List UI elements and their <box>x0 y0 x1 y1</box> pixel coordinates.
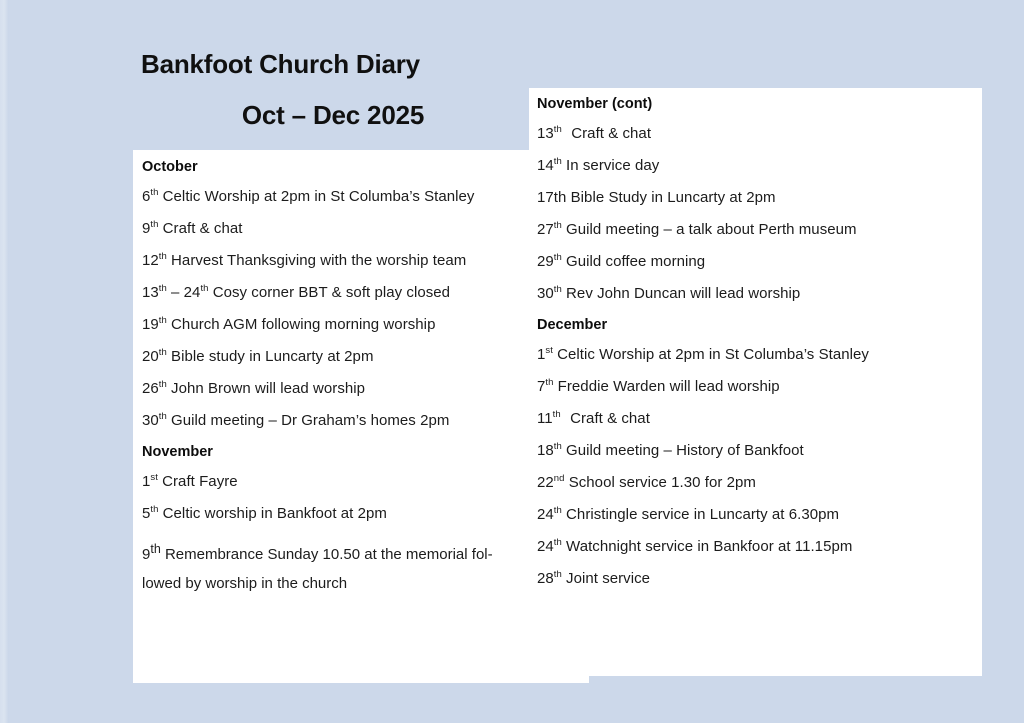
diary-entry: 9th Craft & chat <box>142 218 520 239</box>
entry-text: Church AGM following morning worship <box>171 316 435 333</box>
diary-entry: 12th Harvest Thanksgiving with the worsh… <box>142 250 520 271</box>
diary-entry: 19th Church AGM following morning worshi… <box>142 314 520 335</box>
entry-day-ordinal: th <box>553 409 561 420</box>
entry-day-ordinal: th <box>159 283 167 294</box>
entry-day: 11 <box>537 410 553 427</box>
entry-day: 14 <box>537 157 554 174</box>
diary-entry: 1st Craft Fayre <box>142 471 520 492</box>
month-heading: November <box>142 443 520 462</box>
diary-entry: 7th Freddie Warden will lead worship <box>537 376 967 397</box>
entry-day-ordinal: st <box>545 345 553 356</box>
entry-day: 30 <box>142 412 159 429</box>
entry-day-ordinal: th <box>150 542 160 556</box>
entry-text: Bible Study in Luncarty at 2pm <box>571 189 776 206</box>
entry-text: Bible study in Luncarty at 2pm <box>171 348 373 365</box>
entry-day-end: 24 <box>184 284 201 301</box>
entry-text: Cosy corner BBT & soft play closed <box>213 284 450 301</box>
entry-day-ordinal: th <box>159 379 167 390</box>
entry-text: Watchnight service in Bankfoor at 11.15p… <box>566 538 852 555</box>
entry-day: 18 <box>537 442 554 459</box>
entry-text: Joint service <box>566 570 650 587</box>
entry-day-ordinal: th <box>554 537 562 548</box>
entry-day: 22 <box>537 474 554 491</box>
entry-day-ordinal: th <box>554 569 562 580</box>
entry-text: Guild meeting – a talk about Perth museu… <box>566 221 857 238</box>
entry-text: Craft Fayre <box>162 473 238 490</box>
entry-day: 30 <box>537 285 554 302</box>
month-heading: October <box>142 158 520 177</box>
entry-text: Celtic worship in Bankfoot at 2pm <box>163 505 387 522</box>
entry-day: 17th <box>537 189 566 206</box>
diary-entry: 29th Guild coffee morning <box>537 251 967 272</box>
diary-entry: 30th Rev John Duncan will lead worship <box>537 283 967 304</box>
entry-day-ordinal: th <box>159 411 167 422</box>
entry-day-ordinal: nd <box>554 473 565 484</box>
diary-entry: 30th Guild meeting – Dr Graham’s homes 2… <box>142 410 520 431</box>
entry-text: Craft & chat <box>163 220 243 237</box>
entry-text: Remembrance Sunday 10.50 at the memorial… <box>142 546 493 592</box>
entry-day: 29 <box>537 253 554 270</box>
entry-text: Craft & chat <box>571 125 651 142</box>
entry-text: Guild meeting – Dr Graham’s homes 2pm <box>171 412 449 429</box>
entry-day: 13 <box>537 125 554 142</box>
panel-seam-filler <box>529 600 589 683</box>
month-heading: December <box>537 316 967 335</box>
entry-day: 28 <box>537 570 554 587</box>
entry-day: 20 <box>142 348 159 365</box>
diary-entry: 28th Joint service <box>537 568 967 589</box>
diary-entry: 22nd School service 1.30 for 2pm <box>537 472 967 493</box>
diary-entry: 11th Craft & chat <box>537 408 967 429</box>
entry-day: 24 <box>537 506 554 523</box>
entry-day-ordinal: th <box>159 347 167 358</box>
left-column: October6th Celtic Worship at 2pm in St C… <box>142 158 520 609</box>
entry-text: Harvest Thanksgiving with the worship te… <box>171 252 466 269</box>
entry-text: Rev John Duncan will lead worship <box>566 285 800 302</box>
diary-entry: 9th Remembrance Sunday 10.50 at the memo… <box>142 535 520 598</box>
entry-text: In service day <box>566 157 659 174</box>
entry-day: 13 <box>142 284 159 301</box>
diary-entry: 18th Guild meeting – History of Bankfoot <box>537 440 967 461</box>
right-column: November (cont)13th Craft & chat14th In … <box>537 95 967 600</box>
entry-day-ordinal: th <box>554 284 562 295</box>
diary-entry: 20th Bible study in Luncarty at 2pm <box>142 346 520 367</box>
diary-entry: 24th Christingle service in Luncarty at … <box>537 504 967 525</box>
entry-text: Craft & chat <box>570 410 650 427</box>
entry-day: 24 <box>537 538 554 555</box>
entry-day: 19 <box>142 316 159 333</box>
document-title: Bankfoot Church Diary Oct – Dec 2025 <box>133 48 533 131</box>
entry-day-ordinal: th <box>554 252 562 263</box>
entry-day-ordinal: th <box>554 441 562 452</box>
diary-entry: 5th Celtic worship in Bankfoot at 2pm <box>142 503 520 524</box>
title-line-two: Oct – Dec 2025 <box>133 99 533 131</box>
entry-text: Christingle service in Luncarty at 6.30p… <box>566 506 839 523</box>
entry-day: 26 <box>142 380 159 397</box>
diary-entry: 1st Celtic Worship at 2pm in St Columba’… <box>537 344 967 365</box>
entry-text: Celtic Worship at 2pm in St Columba’s St… <box>557 346 869 363</box>
entry-day-ordinal: st <box>150 472 158 483</box>
entry-day-ordinal: th <box>554 156 562 167</box>
entry-day-ordinal: th <box>554 220 562 231</box>
diary-entry: 27th Guild meeting – a talk about Perth … <box>537 219 967 240</box>
entry-day-ordinal: th <box>554 505 562 516</box>
entry-day-ordinal: th <box>159 315 167 326</box>
entry-text: Freddie Warden will lead worship <box>558 378 780 395</box>
left-edge-strip <box>0 0 9 723</box>
diary-entry: 14th In service day <box>537 155 967 176</box>
entry-day: 12 <box>142 252 159 269</box>
entry-spacer <box>561 410 570 427</box>
entry-day-ordinal: th <box>159 251 167 262</box>
diary-entry: 6th Celtic Worship at 2pm in St Columba’… <box>142 186 520 207</box>
entry-text: Guild meeting – History of Bankfoot <box>566 442 804 459</box>
entry-text: School service 1.30 for 2pm <box>569 474 756 491</box>
title-line-one: Bankfoot Church Diary <box>133 48 533 80</box>
entry-text: John Brown will lead worship <box>171 380 365 397</box>
entry-range-dash: – <box>167 284 184 301</box>
diary-entry: 17th Bible Study in Luncarty at 2pm <box>537 187 967 208</box>
entry-day-ordinal: th <box>554 124 562 135</box>
diary-entry: 24th Watchnight service in Bankfoor at 1… <box>537 536 967 557</box>
entry-day: 27 <box>537 221 554 238</box>
month-heading: November (cont) <box>537 95 967 114</box>
diary-entry: 26th John Brown will lead worship <box>142 378 520 399</box>
entry-text: Guild coffee morning <box>566 253 705 270</box>
diary-entry: 13th Craft & chat <box>537 123 967 144</box>
diary-entry: 13th – 24th Cosy corner BBT & soft play … <box>142 282 520 303</box>
entry-text: Celtic Worship at 2pm in St Columba’s St… <box>163 188 475 205</box>
entry-spacer <box>562 125 571 142</box>
